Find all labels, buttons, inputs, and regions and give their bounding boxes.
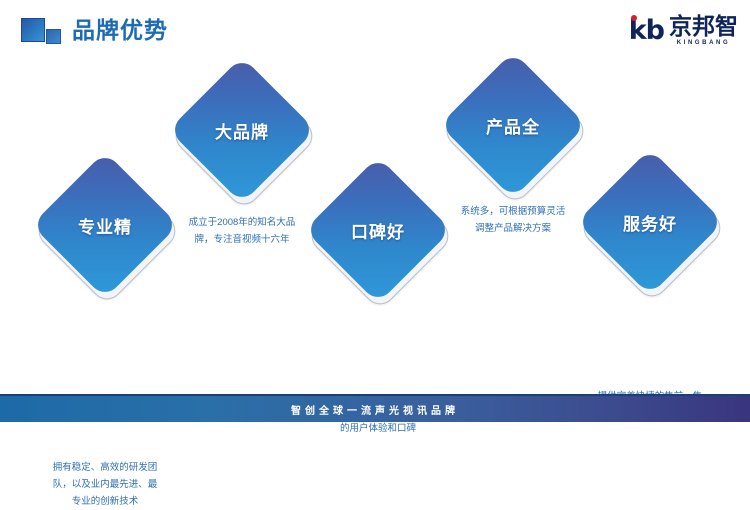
diamond-label: 口碑好	[326, 178, 430, 282]
logo-text-block: 京邦智 KINGBANG	[669, 14, 738, 47]
footer-slogan: 智创全球一流声光视讯品牌	[291, 402, 459, 417]
diamond-label: 服务好	[598, 170, 702, 274]
diamond-shape: 口碑好	[326, 178, 430, 282]
advantage-caption-1: 拥有稳定、高效的研发团 队，以及业内最先进、最 专业的创新技术	[30, 459, 180, 510]
advantage-caption-4: 系统多，可根据预算灵活 调整产品解决方案	[438, 203, 588, 237]
brand-logo: kb 京邦智 KINGBANG	[629, 10, 738, 50]
logo-mark: kb	[629, 17, 664, 44]
slide-footer: 智创全球一流声光视讯品牌	[0, 394, 750, 422]
blue-square-icon	[21, 18, 45, 42]
logo-english-name: KINGBANG	[677, 39, 730, 47]
advantage-caption-2: 成立于2008年的知名大品 牌，专注音视频十六年	[167, 214, 317, 248]
diamond-shape: 专业精	[53, 173, 157, 277]
logo-dot-icon	[631, 15, 637, 21]
diamond-label: 产品全	[461, 73, 565, 177]
slide-header: 品牌优势 kb 京邦智 KINGBANG	[0, 0, 750, 62]
diamond-shape: 大品牌	[190, 78, 294, 182]
diamond-label: 大品牌	[190, 78, 294, 182]
logo-chinese-name: 京邦智	[669, 14, 738, 38]
diamond-label: 专业精	[53, 173, 157, 277]
blue-square-small-icon	[46, 29, 61, 44]
page-title: 品牌优势	[72, 14, 168, 46]
diamond-shape: 服务好	[598, 170, 702, 274]
diamond-shape: 产品全	[461, 73, 565, 177]
